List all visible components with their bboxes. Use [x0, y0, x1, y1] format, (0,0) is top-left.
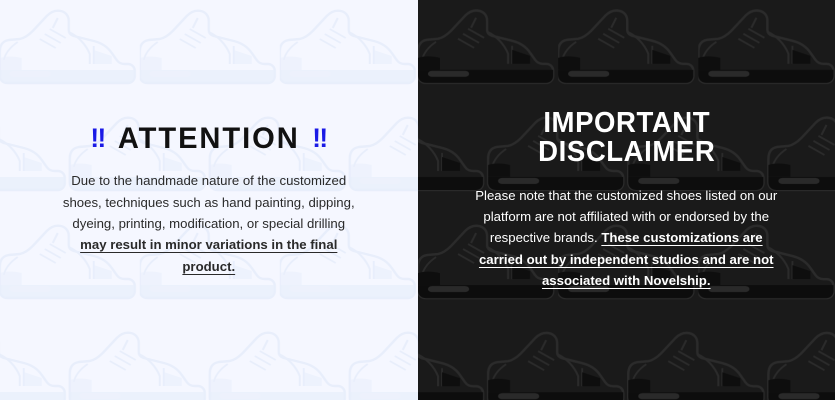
disclaimer-content: IMPORTANT DISCLAIMER Please note that th…	[418, 109, 835, 292]
attention-heading: ‼ ATTENTION ‼	[31, 123, 386, 154]
attention-panel: ‼ ATTENTION ‼ Due to the handmade nature…	[0, 0, 418, 400]
disclaimer-body: Please note that the customized shoes li…	[466, 185, 786, 292]
bang-right-icon: ‼	[312, 124, 327, 152]
disclaimer-heading-line2: DISCLAIMER	[453, 138, 800, 167]
disclaimer-heading: IMPORTANT DISCLAIMER	[453, 109, 800, 167]
bang-left-icon: ‼	[90, 124, 105, 152]
disclaimer-heading-line1: IMPORTANT	[453, 109, 800, 138]
attention-content: ‼ ATTENTION ‼ Due to the handmade nature…	[0, 123, 418, 277]
attention-heading-text: ATTENTION	[118, 123, 300, 154]
attention-body-emphasis: may result in minor variations in the fi…	[80, 237, 337, 273]
disclaimer-panel: IMPORTANT DISCLAIMER Please note that th…	[418, 0, 835, 400]
attention-body-normal: Due to the handmade nature of the custom…	[63, 173, 355, 231]
attention-body: Due to the handmade nature of the custom…	[59, 170, 359, 277]
customization-disclaimer-banner: ‼ ATTENTION ‼ Due to the handmade nature…	[0, 0, 835, 400]
